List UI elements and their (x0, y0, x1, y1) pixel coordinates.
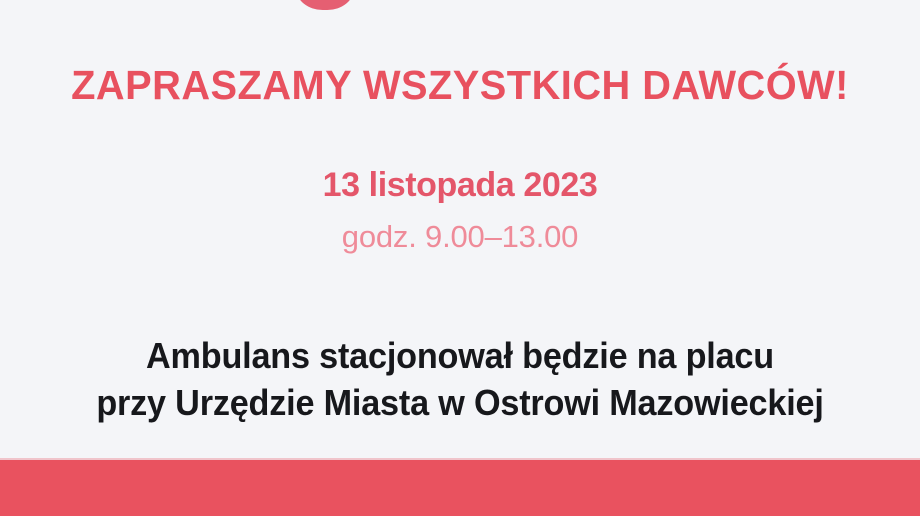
drop-shape-icon (296, 0, 354, 10)
page-title: ZAPRASZAMY WSZYSTKICH DAWCÓW! (14, 62, 906, 109)
bottom-accent-band (0, 460, 920, 516)
event-location-line-1: Ambulans stacjonował będzie na placu (23, 332, 897, 379)
event-location: Ambulans stacjonował będzie na placu prz… (0, 332, 920, 426)
event-location-line-2: przy Urzędzie Miasta w Ostrowi Mazowieck… (23, 379, 897, 426)
poster-canvas: ZAPRASZAMY WSZYSTKICH DAWCÓW! 13 listopa… (0, 0, 920, 516)
event-time: godz. 9.00–13.00 (0, 219, 920, 255)
event-date: 13 listopada 2023 (0, 166, 920, 205)
